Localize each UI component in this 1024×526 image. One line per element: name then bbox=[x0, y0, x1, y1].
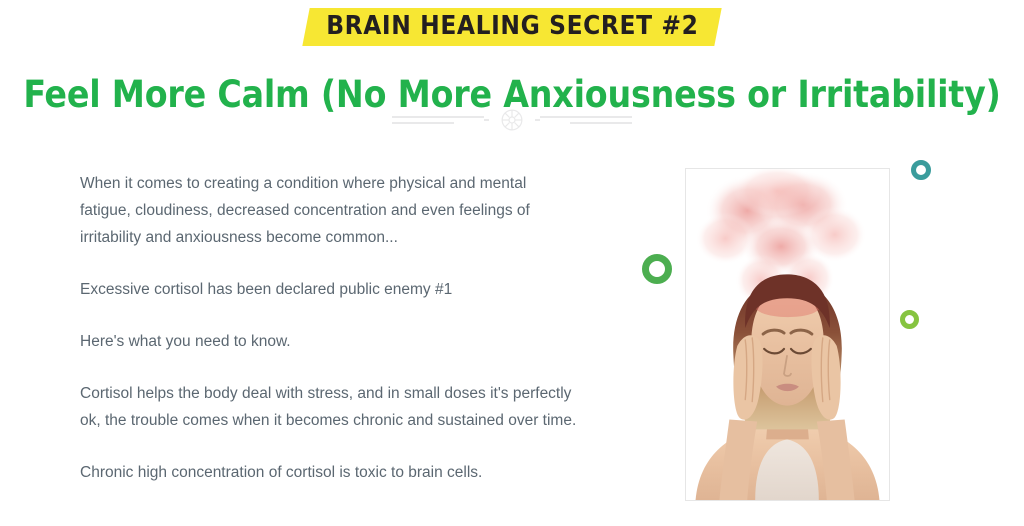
body-paragraph: Chronic high concentration of cortisol i… bbox=[80, 459, 580, 486]
divider-rule-right bbox=[540, 109, 632, 131]
body-paragraph: Here's what you need to know. bbox=[80, 328, 580, 355]
ring-lime-icon bbox=[900, 310, 919, 329]
divider-line-lower-right bbox=[570, 122, 632, 124]
ring-teal-icon bbox=[911, 160, 931, 180]
body-paragraph: Cortisol helps the body deal with stress… bbox=[80, 380, 580, 434]
ring-green-icon bbox=[642, 254, 672, 284]
body-paragraph: Excessive cortisol has been declared pub… bbox=[80, 276, 580, 303]
divider-dash-left bbox=[484, 119, 489, 121]
divider-rule-left bbox=[392, 109, 484, 131]
divider-line-lower-left bbox=[392, 122, 454, 124]
secret-badge: BRAIN HEALING SECRET #2 bbox=[302, 8, 722, 46]
stress-photo bbox=[685, 168, 890, 501]
body-copy: When it comes to creating a condition wh… bbox=[80, 170, 580, 486]
section-divider bbox=[0, 103, 1024, 137]
ornament-wheel-icon bbox=[497, 105, 527, 135]
divider-line-upper-left bbox=[392, 116, 484, 118]
badge-container: BRAIN HEALING SECRET #2 bbox=[0, 8, 1024, 48]
body-paragraph: When it comes to creating a condition wh… bbox=[80, 170, 580, 251]
badge-label: BRAIN HEALING SECRET #2 bbox=[326, 13, 698, 39]
divider-line-upper-right bbox=[540, 116, 632, 118]
